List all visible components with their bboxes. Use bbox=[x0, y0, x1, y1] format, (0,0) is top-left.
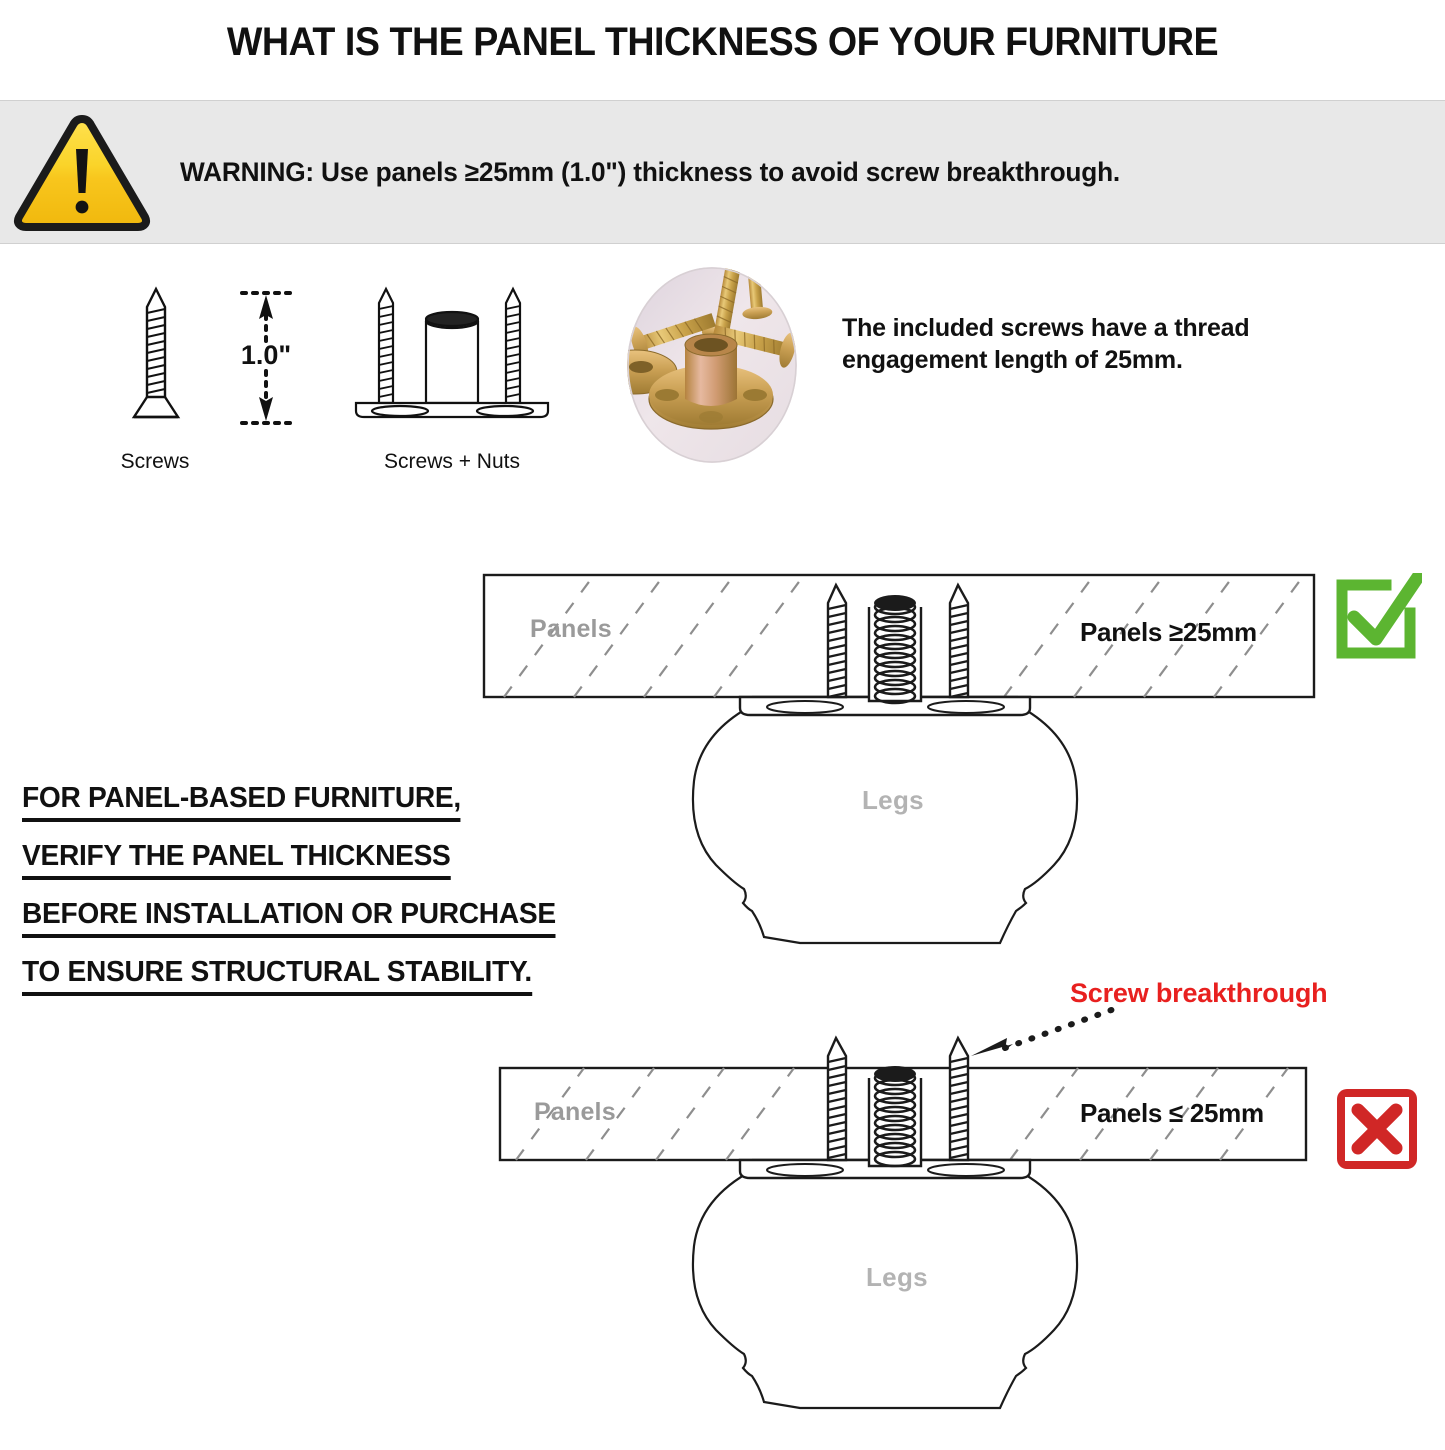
legs-label-good: Legs bbox=[862, 785, 924, 816]
screws-nuts-caption: Screws + Nuts bbox=[352, 450, 552, 474]
thread-engagement-note: The included screws have a thread engage… bbox=[842, 312, 1362, 376]
panel-spec-good: Panels ≥25mm bbox=[1080, 617, 1257, 648]
warning-text: WARNING: Use panels ≥25mm (1.0") thickne… bbox=[180, 157, 1120, 188]
tnut-and-screws-photo bbox=[627, 267, 797, 463]
red-cross-icon bbox=[1336, 1088, 1418, 1170]
screws-caption: Screws bbox=[80, 450, 230, 474]
green-check-icon bbox=[1334, 573, 1422, 661]
warning-triangle-icon bbox=[12, 113, 152, 231]
panel-label-good: Panels bbox=[530, 615, 612, 644]
screw-icon bbox=[128, 285, 184, 425]
diagram-bad-panel: Panels Panels ≤ 25mm Legs bbox=[0, 1030, 1445, 1445]
legs-label-bad: Legs bbox=[866, 1262, 928, 1293]
diagram-bad-svg bbox=[0, 1030, 1445, 1445]
diagram-good-panel: Panels Panels ≥25mm Legs bbox=[0, 545, 1445, 965]
warning-banner: WARNING: Use panels ≥25mm (1.0") thickne… bbox=[0, 100, 1445, 244]
page-title: WHAT IS THE PANEL THICKNESS OF YOUR FURN… bbox=[43, 20, 1401, 65]
screws-and-nut-icon bbox=[350, 285, 555, 425]
panel-spec-bad: Panels ≤ 25mm bbox=[1080, 1098, 1264, 1129]
panel-label-bad: Panels bbox=[534, 1098, 616, 1127]
dimension-label: 1.0" bbox=[232, 340, 300, 371]
diagram-good-svg bbox=[0, 545, 1445, 965]
